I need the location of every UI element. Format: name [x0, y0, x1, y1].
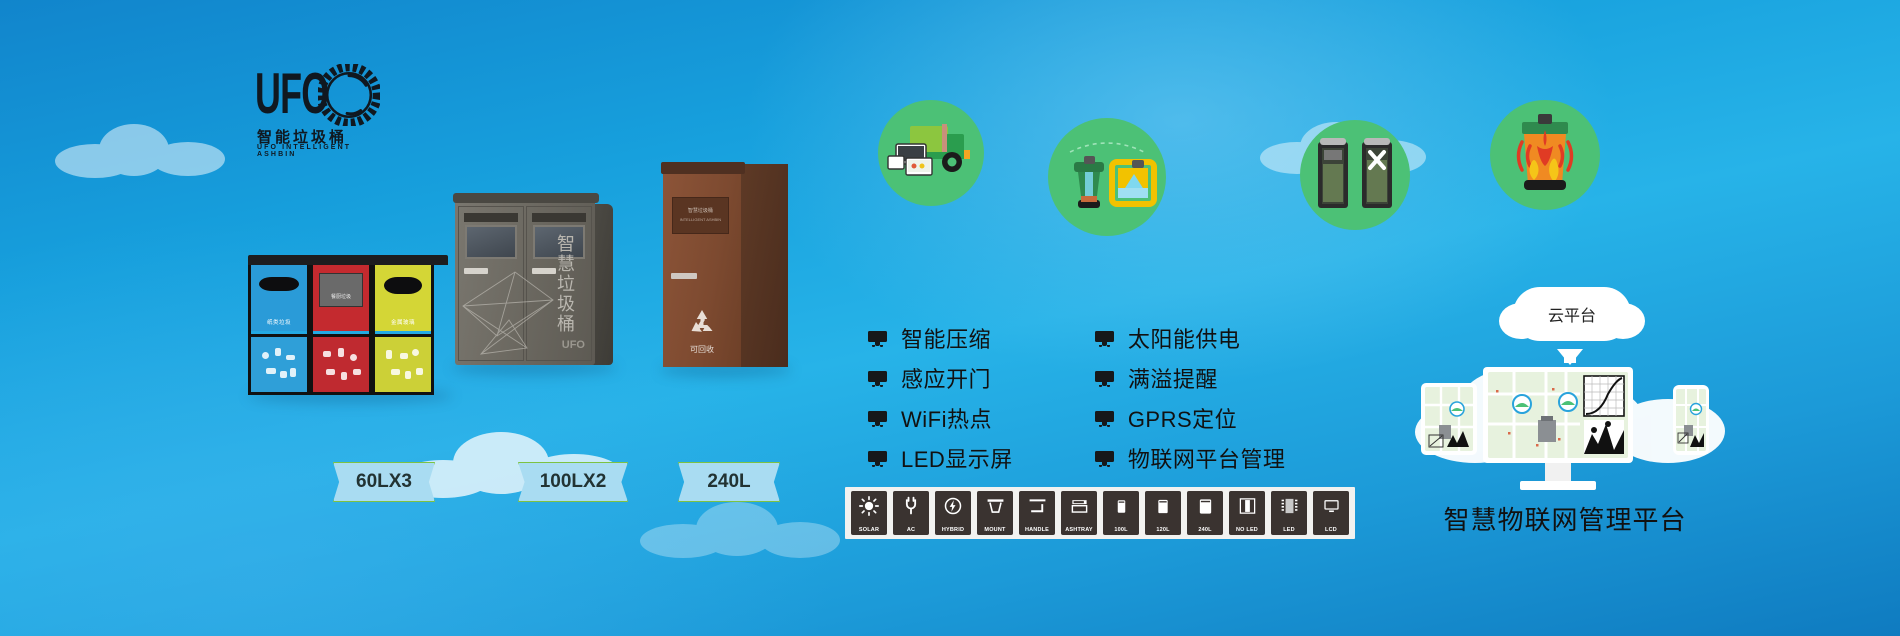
dual-bin-body: 智慧垃圾桶 UFO	[455, 200, 595, 365]
spec-label: HYBRID	[936, 527, 970, 533]
tablet-screen	[1425, 387, 1473, 451]
gear-ring-icon	[318, 64, 380, 126]
capacity-banner-60lx3: 60LX3	[333, 462, 435, 502]
promo-banner: UFO 智能垃圾桶 UFO INTELLIGENT ASHBIN 纸类垃圾	[0, 0, 1900, 636]
feature-label: LED显示屏	[901, 442, 1013, 474]
recycle-icon	[687, 307, 717, 337]
cloud-decor-1	[55, 120, 235, 180]
monitor-base	[1520, 481, 1596, 490]
lcd-screen-icon	[1318, 494, 1344, 518]
wall-mount-icon	[982, 494, 1008, 518]
monitor-icon	[868, 371, 887, 386]
monitor-stand	[1545, 463, 1571, 481]
monitor-icon	[1483, 367, 1633, 463]
spec-label: 120L	[1146, 527, 1180, 533]
spec-chip-solar[interactable]: SOLAR	[851, 491, 887, 535]
power-plug-icon	[898, 494, 924, 518]
spec-icon-strip: SOLAR AC HYBRID MOUNT	[845, 487, 1355, 539]
bin-100l-icon	[1108, 494, 1134, 518]
spec-chip-handle[interactable]: HANDLE	[1019, 491, 1055, 535]
capacity-banner-240l: 240L	[678, 462, 780, 502]
tablet-icon	[1421, 383, 1477, 455]
spec-label: LED	[1272, 527, 1306, 533]
cell-3-label: 金属玻璃	[375, 318, 431, 326]
spec-label: SOLAR	[852, 527, 886, 533]
spec-chip-led[interactable]: LED	[1271, 491, 1307, 535]
door-right-strip	[532, 213, 586, 222]
triple-bin-cell-3: 金属玻璃	[372, 265, 434, 395]
ashtray-icon	[1066, 494, 1092, 518]
lightning-bolt-icon	[940, 494, 966, 518]
spec-label: ASHTRAY	[1062, 527, 1096, 533]
single-bin-handle[interactable]	[671, 273, 698, 279]
feature-label: GPRS定位	[1128, 402, 1237, 434]
garbage-truck-with-devices-icon	[878, 100, 984, 206]
scene-circle-collection	[878, 100, 984, 206]
spec-label: AC	[894, 527, 928, 533]
down-arrow-icon	[1557, 349, 1583, 365]
spec-chip-240l[interactable]: 240L	[1187, 491, 1223, 535]
feature-list: 智能压缩 感应开门 WiFi热点 LED显示屏 太阳能供电 满溢提醒	[868, 322, 1285, 474]
cell-1-lower	[251, 334, 307, 392]
screen-line-1: 智慧垃圾桶	[673, 207, 727, 214]
spec-chip-ac[interactable]: AC	[893, 491, 929, 535]
cloud-platform-badge: 云平台	[1513, 287, 1631, 341]
spec-chip-hybrid[interactable]: HYBRID	[935, 491, 971, 535]
feature-label: 满溢提醒	[1128, 362, 1218, 394]
phone-icon	[1673, 385, 1709, 455]
feature-item: 智能压缩	[868, 322, 1013, 354]
screen-line-2: INTELLIGENT ASHBIN	[673, 217, 727, 222]
bin-120l-icon	[1150, 494, 1176, 518]
platform-caption: 智慧物联网管理平台	[1405, 500, 1725, 537]
capacity-label-1: 60LX3	[356, 471, 412, 493]
cell-1-slot	[259, 277, 299, 292]
fire-alarm-bin-icon	[1490, 100, 1600, 210]
cloud-decor-4	[640, 500, 840, 560]
cell-3-slot	[384, 277, 422, 294]
feature-label: 太阳能供电	[1128, 322, 1241, 354]
product-triple-bin: 纸类垃圾 餐厨垃圾	[248, 255, 448, 395]
cell-3-lower	[375, 334, 431, 392]
spec-label: 240L	[1188, 527, 1222, 533]
triple-bin-top	[248, 255, 448, 265]
cell-2-lower	[313, 334, 369, 392]
scene-circle-fire-alarm	[1490, 100, 1600, 210]
cell-1-upper: 纸类垃圾	[251, 265, 307, 331]
feature-item: 满溢提醒	[1095, 362, 1286, 394]
handle-icon	[1024, 494, 1050, 518]
single-bin-front: 智慧垃圾桶 INTELLIGENT ASHBIN 可回收	[663, 172, 741, 367]
spec-chip-no-led[interactable]: NO LED	[1229, 491, 1265, 535]
spec-label: 100L	[1104, 527, 1138, 533]
spec-label: LCD	[1314, 527, 1348, 533]
spec-chip-mount[interactable]: MOUNT	[977, 491, 1013, 535]
cell-2-label: 餐厨垃圾	[313, 293, 369, 300]
cloud-platform-illustration: 云平台	[1405, 295, 1725, 540]
capacity-label-2: 100LX2	[540, 471, 607, 493]
triple-bin-cell-2: 餐厨垃圾	[310, 265, 372, 395]
feature-item: GPRS定位	[1095, 402, 1286, 434]
monitor-screen	[1488, 372, 1628, 458]
feature-item: WiFi热点	[868, 402, 1013, 434]
sun-icon	[856, 494, 882, 518]
single-bin-top	[661, 162, 745, 174]
spec-chip-lcd[interactable]: LCD	[1313, 491, 1349, 535]
door-left-strip	[464, 213, 518, 222]
feature-item: 太阳能供电	[1095, 322, 1286, 354]
spec-label: HANDLE	[1020, 527, 1054, 533]
blank-panel-icon	[1234, 494, 1260, 518]
monitor-icon	[868, 411, 887, 426]
feature-label: 物联网平台管理	[1128, 442, 1286, 474]
monitor-icon	[1095, 331, 1114, 346]
phone-screen	[1676, 389, 1706, 451]
monitor-icon	[868, 451, 887, 466]
cell-2-upper: 餐厨垃圾	[313, 265, 369, 331]
dual-bin-top	[453, 193, 599, 203]
spec-chip-100l[interactable]: 100L	[1103, 491, 1139, 535]
feature-label: 感应开门	[901, 362, 991, 394]
dual-bin-vertical-text: 智慧垃圾桶	[554, 234, 575, 334]
product-single-bin: 智慧垃圾桶 INTELLIGENT ASHBIN 可回收	[663, 172, 788, 367]
triple-bin-cell-1: 纸类垃圾	[248, 265, 310, 395]
scene-circle-sensing	[1048, 118, 1166, 236]
single-bin-bottom-label: 可回收	[663, 344, 741, 355]
led-panel-icon	[1276, 494, 1302, 518]
brand-logo: UFO 智能垃圾桶 UFO INTELLIGENT ASHBIN	[255, 60, 380, 155]
cell-1-label: 纸类垃圾	[251, 318, 307, 326]
monitor-icon	[1095, 411, 1114, 426]
product-dual-bin: 智慧垃圾桶 UFO	[455, 200, 613, 365]
feature-label: WiFi热点	[901, 402, 992, 434]
monitor-icon	[1095, 451, 1114, 466]
feature-column-1: 智能压缩 感应开门 WiFi热点 LED显示屏	[868, 322, 1013, 474]
spec-chip-120l[interactable]: 120L	[1145, 491, 1181, 535]
spec-chip-ashtray[interactable]: ASHTRAY	[1061, 491, 1097, 535]
spec-label: NO LED	[1230, 527, 1264, 533]
monitor-icon	[1095, 371, 1114, 386]
cell-2-panel	[319, 273, 364, 307]
bin-level-sensor-icon	[1048, 118, 1166, 236]
scene-circle-compaction	[1300, 120, 1410, 230]
feature-item: 感应开门	[868, 362, 1013, 394]
capacity-banner-100lx2: 100LX2	[518, 462, 628, 502]
single-bin-side	[741, 164, 788, 367]
dual-bin-side-logo: UFO	[562, 339, 585, 351]
feature-item: LED显示屏	[868, 442, 1013, 474]
cell-3-upper: 金属玻璃	[375, 265, 431, 331]
cloud-platform-label: 云平台	[1548, 302, 1596, 326]
brand-tagline-en: UFO INTELLIGENT ASHBIN	[257, 144, 380, 158]
feature-label: 智能压缩	[901, 322, 991, 354]
door-left-window	[465, 225, 517, 259]
compacting-bins-icon	[1300, 120, 1410, 230]
single-bin-screen: 智慧垃圾桶 INTELLIGENT ASHBIN	[672, 197, 728, 234]
spec-label: MOUNT	[978, 527, 1012, 533]
feature-item: 物联网平台管理	[1095, 442, 1286, 474]
feature-column-2: 太阳能供电 满溢提醒 GPRS定位 物联网平台管理	[1095, 322, 1286, 474]
monitor-icon	[868, 331, 887, 346]
capacity-label-3: 240L	[707, 471, 750, 493]
bin-240l-icon	[1192, 494, 1218, 518]
